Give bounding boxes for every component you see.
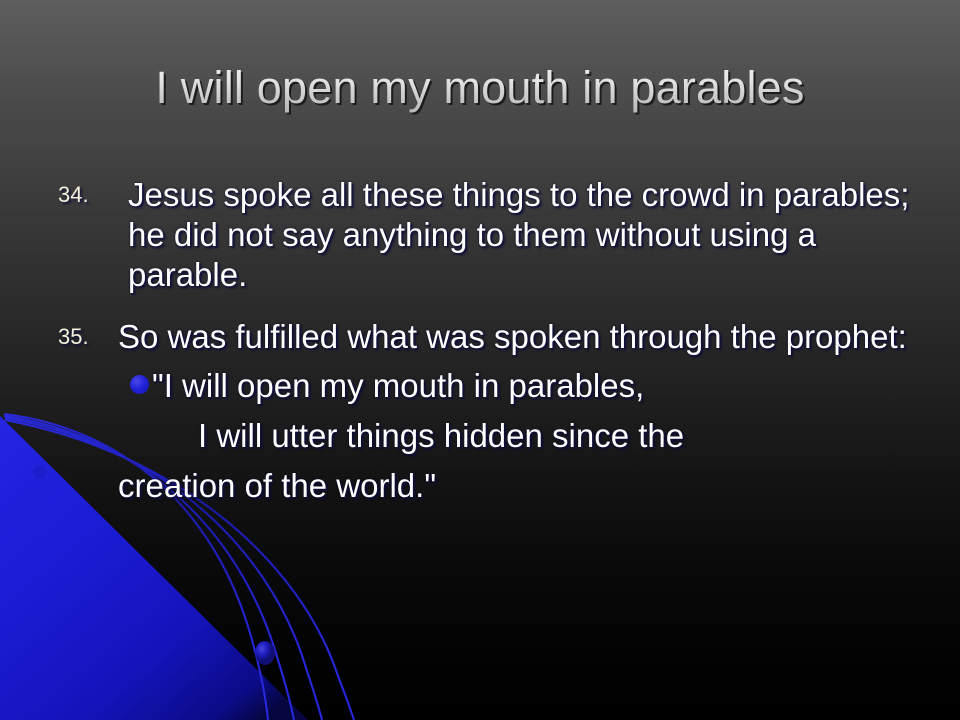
quote-line-text: "I will open my mouth in parables, — [152, 367, 644, 404]
bullet-dot-icon — [130, 375, 149, 394]
prophecy-quote: "I will open my mouth in parables, I wil… — [0, 361, 960, 511]
quote-line: "I will open my mouth in parables, — [152, 361, 960, 411]
quote-line: creation of the world." — [118, 461, 960, 511]
verse-number: 34. — [58, 184, 89, 206]
verse-item: 34. Jesus spoke all these things to the … — [0, 175, 960, 295]
slide-title: I will open my mouth in parables — [0, 62, 960, 114]
quote-line: I will utter things hidden since the — [198, 411, 960, 461]
verse-text: So was fulfilled what was spoken through… — [118, 317, 920, 357]
verse-text: Jesus spoke all these things to the crow… — [128, 175, 920, 295]
verse-item: 35. So was fulfilled what was spoken thr… — [0, 317, 960, 357]
verse-number: 35. — [58, 326, 89, 348]
presentation-slide: I will open my mouth in parables 34. Jes… — [0, 0, 960, 720]
slide-body: 34. Jesus spoke all these things to the … — [0, 175, 960, 511]
arc-node-dot-icon — [255, 641, 275, 665]
